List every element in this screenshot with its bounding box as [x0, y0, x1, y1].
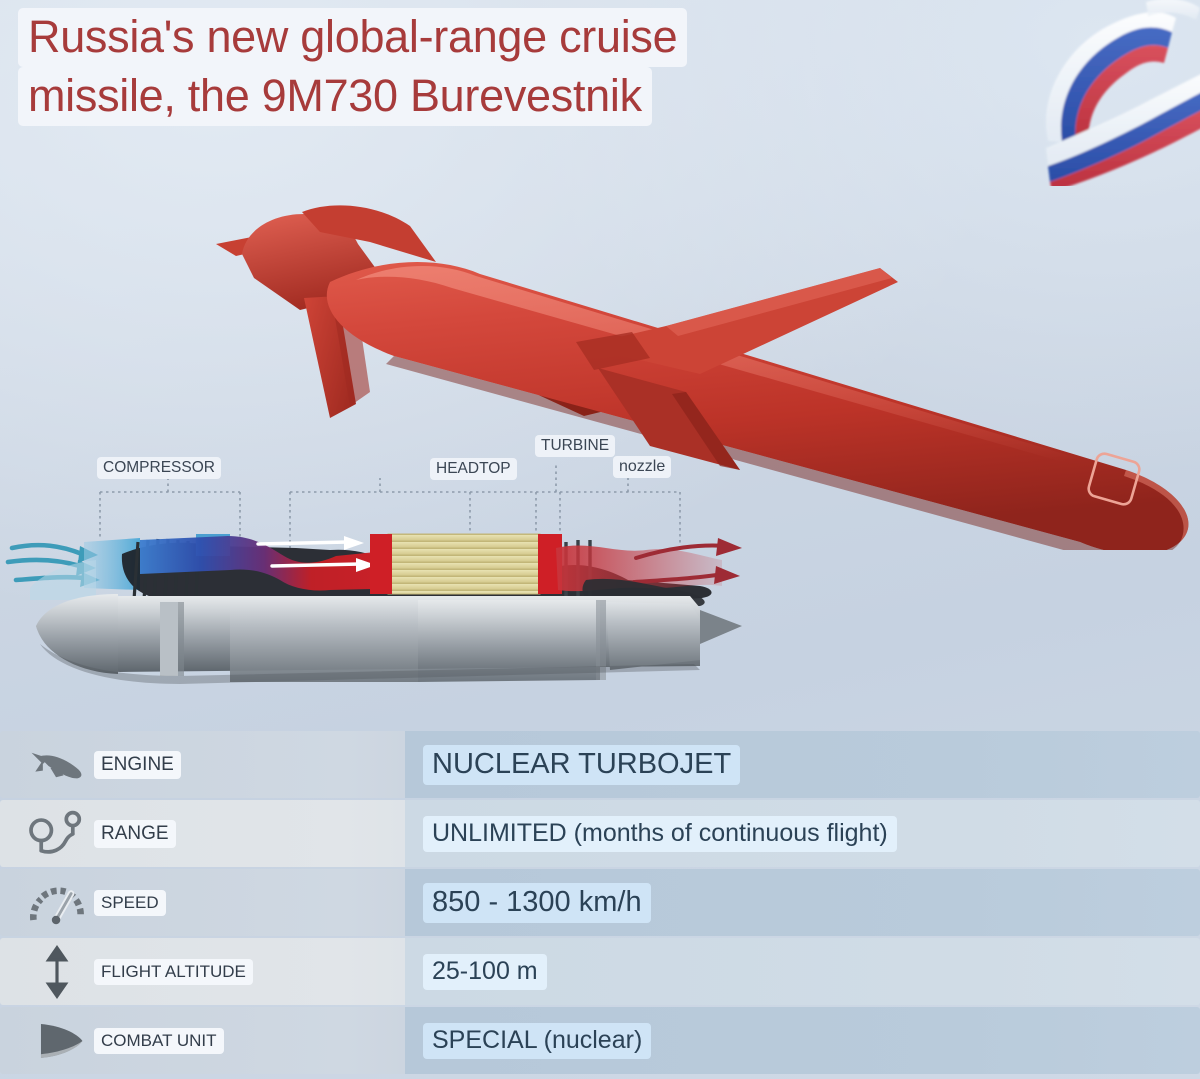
spec-value: UNLIMITED (months of continuous flight): [423, 816, 897, 852]
title-line-1: Russia's new global-range cruise: [18, 8, 687, 67]
page-title: Russia's new global-range cruise missile…: [18, 8, 863, 126]
table-row: COMBAT UNIT SPECIAL (nuclear): [0, 1007, 1200, 1074]
spec-value: SPECIAL (nuclear): [423, 1023, 651, 1059]
spec-label-cell: SPEED: [0, 869, 405, 936]
spec-label-cell: FLIGHT ALTITUDE: [0, 938, 405, 1005]
table-row: FLIGHT ALTITUDE 25-100 m: [0, 938, 1200, 1005]
table-row: ENGINE NUCLEAR TURBOJET: [0, 731, 1200, 798]
spec-value-cell: SPECIAL (nuclear): [405, 1007, 1200, 1074]
callout-headtop: HEADTOP: [430, 458, 517, 480]
spec-label: SPEED: [94, 890, 166, 916]
spec-value-cell: UNLIMITED (months of continuous flight): [405, 800, 1200, 867]
table-row: RANGE UNLIMITED (months of continuous fl…: [0, 800, 1200, 867]
spec-value: 25-100 m: [423, 954, 547, 990]
specifications-table: ENGINE NUCLEAR TURBOJET: [0, 731, 1200, 1076]
callout-nozzle: nozzle: [613, 456, 671, 478]
engine-casing: [36, 594, 700, 684]
spec-value-cell: 25-100 m: [405, 938, 1200, 1005]
speedometer-icon: [20, 875, 94, 931]
russian-flag-ribbon-icon: [958, 0, 1200, 186]
spec-label-cell: COMBAT UNIT: [0, 1007, 405, 1074]
callout-compressor: COMPRESSOR: [97, 457, 221, 479]
spec-value-cell: NUCLEAR TURBOJET: [405, 731, 1200, 798]
infographic-poster: Russia's new global-range cruise missile…: [0, 0, 1200, 1079]
spec-value-cell: 850 - 1300 km/h: [405, 869, 1200, 936]
spec-value: 850 - 1300 km/h: [423, 883, 651, 923]
spec-value: NUCLEAR TURBOJET: [423, 745, 740, 785]
missile-icon: [20, 737, 94, 793]
altitude-arrow-icon: [20, 944, 94, 1000]
spec-label-cell: RANGE: [0, 800, 405, 867]
spec-label-cell: ENGINE: [0, 731, 405, 798]
table-row: SPEED 850 - 1300 km/h: [0, 869, 1200, 936]
spec-label: ENGINE: [94, 751, 181, 779]
title-line-2: missile, the 9M730 Burevestnik: [18, 67, 652, 126]
spec-label: COMBAT UNIT: [94, 1028, 224, 1054]
route-pins-icon: [20, 806, 94, 862]
warhead-icon: [20, 1013, 94, 1069]
callout-turbine: TURBINE: [535, 435, 615, 457]
spec-label: FLIGHT ALTITUDE: [94, 959, 253, 985]
reactor-core: [388, 534, 540, 594]
spec-label: RANGE: [94, 820, 176, 848]
